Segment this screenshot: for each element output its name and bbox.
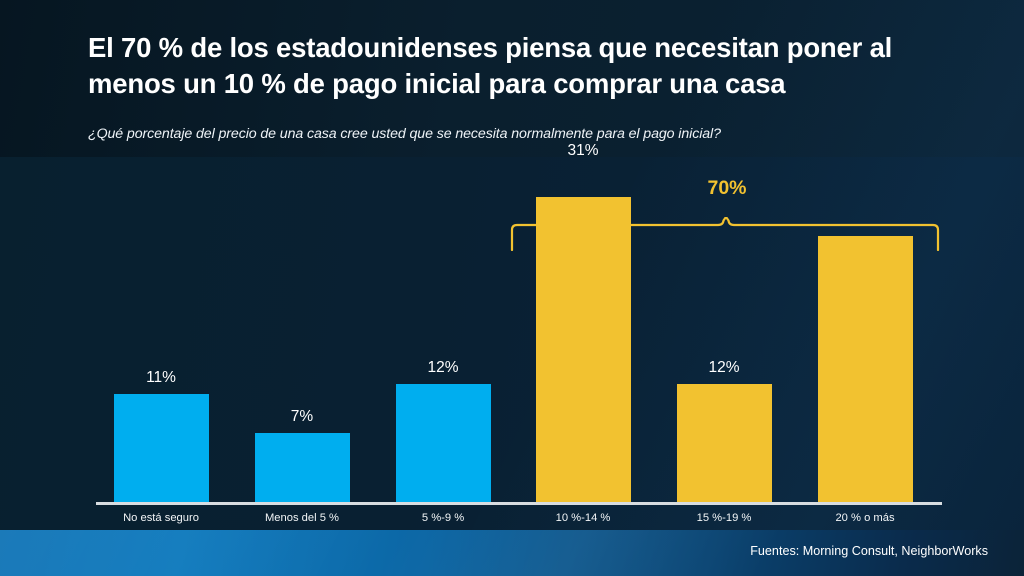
slide-root: El 70 % de los estadounidenses piensa qu… [0, 0, 1024, 576]
page-title: El 70 % de los estadounidenses piensa qu… [88, 30, 948, 102]
bar-5-a-9[interactable] [396, 384, 491, 502]
bar-value-label: 12% [427, 359, 458, 377]
bar-value-label: 12% [708, 359, 739, 377]
page-subtitle: ¿Qué porcentaje del precio de una casa c… [88, 126, 968, 142]
source-attribution: Fuentes: Morning Consult, NeighborWorks [750, 544, 988, 558]
bar-no-esta-seguro[interactable] [114, 394, 209, 502]
x-axis-line [96, 502, 942, 505]
bar-value-label: 31% [567, 142, 598, 160]
annotation-value-70: 70% [707, 177, 746, 200]
category-label-no-esta-seguro: No está seguro [123, 512, 199, 524]
bar-20-o-mas[interactable] [818, 236, 913, 502]
category-label-15-a-19: 15 %-19 % [697, 512, 752, 524]
bar-15-a-19[interactable] [677, 384, 772, 502]
bar-menos-del-5[interactable] [255, 433, 350, 502]
bar-chart: 70% 11% No está seguro 7% Menos del 5 % … [0, 157, 1024, 530]
bar-10-a-14[interactable] [536, 197, 631, 502]
bar-value-label: 7% [291, 408, 313, 426]
bar-value-label: 11% [146, 369, 176, 387]
category-label-5-a-9: 5 %-9 % [422, 512, 464, 524]
category-label-10-a-14: 10 %-14 % [556, 512, 611, 524]
footer-bar: Fuentes: Morning Consult, NeighborWorks [0, 530, 1024, 576]
category-label-menos-del-5: Menos del 5 % [265, 512, 339, 524]
category-label-20-o-mas: 20 % o más [835, 512, 894, 524]
